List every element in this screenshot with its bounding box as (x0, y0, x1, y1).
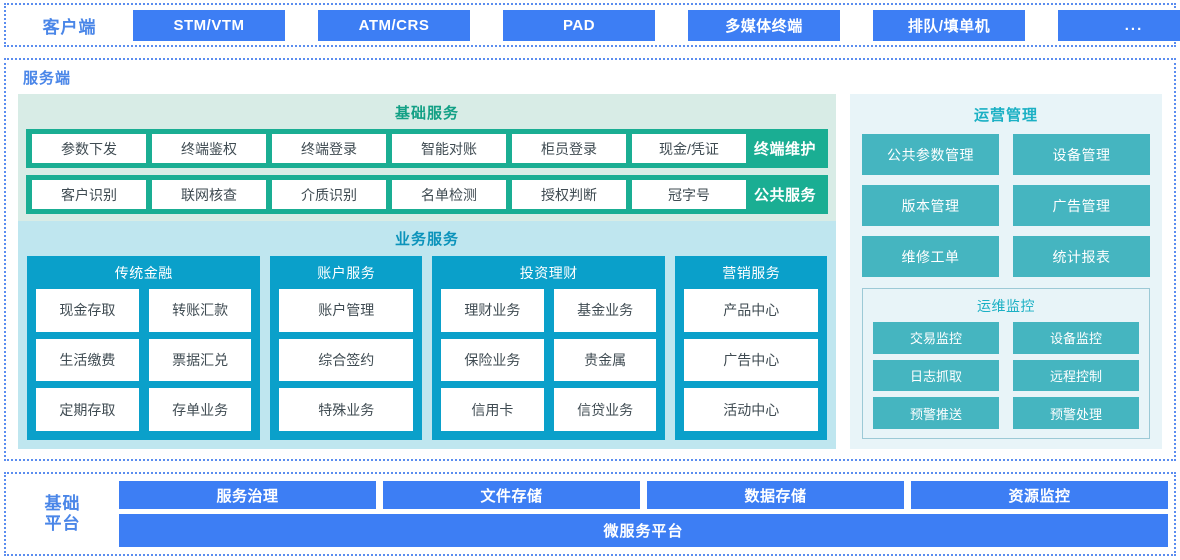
business-item-wealth-management[interactable]: 理财业务 (441, 289, 544, 332)
business-item-advertising-center[interactable]: 广告中心 (684, 339, 818, 382)
business-item-bill-exchange[interactable]: 票据汇兑 (149, 339, 252, 382)
basic-services-row-cells: 客户识别 联网核查 介质识别 名单检测 授权判断 冠字号 (32, 180, 746, 209)
business-item-activity-center[interactable]: 活动中心 (684, 388, 818, 431)
business-item-account-management[interactable]: 账户管理 (279, 289, 413, 332)
server-layer-panel: 服务端 基础服务 参数下发 终端鉴权 终端登录 智能对账 柜员登录 现金/凭证 (4, 58, 1176, 461)
client-layer-panel: 客户端 STM/VTM ATM/CRS PAD 多媒体终端 排队/填单机 ... (4, 3, 1176, 47)
platform-layer-title-line1: 基础 (6, 494, 119, 514)
business-item-comprehensive-signing[interactable]: 综合签约 (279, 339, 413, 382)
business-group-items: 产品中心 广告中心 活动中心 (684, 289, 818, 431)
server-left-column: 基础服务 参数下发 终端鉴权 终端登录 智能对账 柜员登录 现金/凭证 终端维护 (18, 94, 836, 449)
business-group-items: 账户管理 综合签约 特殊业务 (279, 289, 413, 431)
basic-service-media-recognition[interactable]: 介质识别 (272, 180, 386, 209)
basic-service-smart-reconciliation[interactable]: 智能对账 (392, 134, 506, 163)
basic-service-cash-voucher[interactable]: 现金/凭证 (632, 134, 746, 163)
client-terminal-queue-form[interactable]: 排队/填单机 (873, 10, 1025, 41)
business-services-groups: 传统金融 现金存取 转账汇款 生活缴费 票据汇兑 定期存取 存单业务 (27, 256, 827, 440)
basic-services-title: 基础服务 (26, 100, 828, 129)
platform-layer-title: 基础 平台 (6, 494, 119, 533)
client-terminal-multimedia[interactable]: 多媒体终端 (688, 10, 840, 41)
basic-service-terminal-auth[interactable]: 终端鉴权 (152, 134, 266, 163)
client-layer-title: 客户端 (6, 13, 133, 38)
client-terminal-pad[interactable]: PAD (503, 10, 655, 41)
operations-management-section: 运营管理 公共参数管理 设备管理 版本管理 广告管理 维修工单 统计报表 运维监… (850, 94, 1162, 449)
ops-item-device-management[interactable]: 设备管理 (1013, 134, 1150, 175)
business-item-fund-business[interactable]: 基金业务 (554, 289, 657, 332)
business-item-credit-card[interactable]: 信用卡 (441, 388, 544, 431)
basic-services-row-terminal-maintenance: 参数下发 终端鉴权 终端登录 智能对账 柜员登录 现金/凭证 终端维护 (26, 129, 828, 168)
business-item-time-deposit[interactable]: 定期存取 (36, 388, 139, 431)
business-group-traditional-finance: 传统金融 现金存取 转账汇款 生活缴费 票据汇兑 定期存取 存单业务 (27, 256, 260, 440)
ops-item-version-management[interactable]: 版本管理 (862, 185, 999, 226)
monitor-item-alert-handling[interactable]: 预警处理 (1013, 397, 1139, 429)
business-group-investment-finance: 投资理财 理财业务 基金业务 保险业务 贵金属 信用卡 信贷业务 (432, 256, 665, 440)
monitor-item-transaction-monitoring[interactable]: 交易监控 (873, 322, 999, 354)
client-terminal-stm-vtm[interactable]: STM/VTM (133, 10, 285, 41)
basic-services-row-tag-public-service: 公共服务 (746, 184, 822, 205)
basic-services-row-public-service: 客户识别 联网核查 介质识别 名单检测 授权判断 冠字号 公共服务 (26, 175, 828, 214)
basic-service-terminal-login[interactable]: 终端登录 (272, 134, 386, 163)
operations-monitoring-title: 运维监控 (873, 293, 1139, 322)
business-group-title: 营销服务 (684, 260, 818, 289)
monitor-item-device-monitoring[interactable]: 设备监控 (1013, 322, 1139, 354)
ops-item-advertising-management[interactable]: 广告管理 (1013, 185, 1150, 226)
basic-service-teller-login[interactable]: 柜员登录 (512, 134, 626, 163)
business-item-insurance-business[interactable]: 保险业务 (441, 339, 544, 382)
ops-item-public-param-management[interactable]: 公共参数管理 (862, 134, 999, 175)
operations-management-title: 运营管理 (862, 102, 1150, 134)
business-services-title: 业务服务 (27, 226, 827, 256)
business-group-title: 账户服务 (279, 260, 413, 289)
platform-item-service-governance[interactable]: 服务治理 (119, 481, 376, 509)
business-group-title: 投资理财 (441, 260, 656, 289)
monitor-item-remote-control[interactable]: 远程控制 (1013, 360, 1139, 392)
platform-layer-title-line2: 平台 (6, 514, 119, 534)
business-item-product-center[interactable]: 产品中心 (684, 289, 818, 332)
business-services-section: 业务服务 传统金融 现金存取 转账汇款 生活缴费 票据汇兑 定期存取 存单业务 (18, 221, 836, 449)
platform-item-microservice-platform[interactable]: 微服务平台 (119, 514, 1168, 547)
operations-monitoring-items: 交易监控 设备监控 日志抓取 远程控制 预警推送 预警处理 (873, 322, 1139, 429)
business-item-transfer-remittance[interactable]: 转账汇款 (149, 289, 252, 332)
basic-services-section: 基础服务 参数下发 终端鉴权 终端登录 智能对账 柜员登录 现金/凭证 终端维护 (18, 94, 836, 221)
monitor-item-alert-push[interactable]: 预警推送 (873, 397, 999, 429)
business-item-credit-business[interactable]: 信贷业务 (554, 388, 657, 431)
client-terminal-more[interactable]: ... (1058, 10, 1180, 41)
business-group-account-service: 账户服务 账户管理 综合签约 特殊业务 (270, 256, 422, 440)
ops-item-repair-work-order[interactable]: 维修工单 (862, 236, 999, 277)
business-group-title: 传统金融 (36, 260, 251, 289)
client-terminal-atm-crs[interactable]: ATM/CRS (318, 10, 470, 41)
basic-service-online-verification[interactable]: 联网核查 (152, 180, 266, 209)
operations-monitoring-box: 运维监控 交易监控 设备监控 日志抓取 远程控制 预警推送 预警处理 (862, 288, 1150, 439)
business-group-items: 现金存取 转账汇款 生活缴费 票据汇兑 定期存取 存单业务 (36, 289, 251, 431)
ops-item-statistical-report[interactable]: 统计报表 (1013, 236, 1150, 277)
operations-management-items: 公共参数管理 设备管理 版本管理 广告管理 维修工单 统计报表 (862, 134, 1150, 277)
basic-services-row-tag-terminal-maintenance: 终端维护 (746, 138, 822, 159)
platform-item-data-storage[interactable]: 数据存储 (647, 481, 904, 509)
server-columns: 基础服务 参数下发 终端鉴权 终端登录 智能对账 柜员登录 现金/凭证 终端维护 (18, 94, 1162, 449)
platform-button-row: 服务治理 文件存储 数据存储 资源监控 (119, 481, 1168, 509)
business-group-marketing-service: 营销服务 产品中心 广告中心 活动中心 (675, 256, 827, 440)
business-item-precious-metals[interactable]: 贵金属 (554, 339, 657, 382)
basic-service-param-dispatch[interactable]: 参数下发 (32, 134, 146, 163)
basic-service-customer-identify[interactable]: 客户识别 (32, 180, 146, 209)
basic-service-authorization-judgement[interactable]: 授权判断 (512, 180, 626, 209)
platform-content: 服务治理 文件存储 数据存储 资源监控 微服务平台 (119, 481, 1168, 547)
server-layer-title: 服务端 (23, 67, 1162, 88)
basic-service-serial-number[interactable]: 冠字号 (632, 180, 746, 209)
platform-item-resource-monitoring[interactable]: 资源监控 (911, 481, 1168, 509)
basic-service-list-check[interactable]: 名单检测 (392, 180, 506, 209)
basic-services-row-cells: 参数下发 终端鉴权 终端登录 智能对账 柜员登录 现金/凭证 (32, 134, 746, 163)
platform-item-file-storage[interactable]: 文件存储 (383, 481, 640, 509)
business-item-utility-payment[interactable]: 生活缴费 (36, 339, 139, 382)
client-terminal-list: STM/VTM ATM/CRS PAD 多媒体终端 排队/填单机 ... (133, 10, 1180, 41)
business-group-items: 理财业务 基金业务 保险业务 贵金属 信用卡 信贷业务 (441, 289, 656, 431)
business-item-cash-deposit-withdraw[interactable]: 现金存取 (36, 289, 139, 332)
architecture-diagram: 客户端 STM/VTM ATM/CRS PAD 多媒体终端 排队/填单机 ...… (0, 0, 1180, 560)
business-item-special-business[interactable]: 特殊业务 (279, 388, 413, 431)
platform-layer-panel: 基础 平台 服务治理 文件存储 数据存储 资源监控 微服务平台 (4, 472, 1176, 556)
business-item-certificate-deposit[interactable]: 存单业务 (149, 388, 252, 431)
monitor-item-log-capture[interactable]: 日志抓取 (873, 360, 999, 392)
